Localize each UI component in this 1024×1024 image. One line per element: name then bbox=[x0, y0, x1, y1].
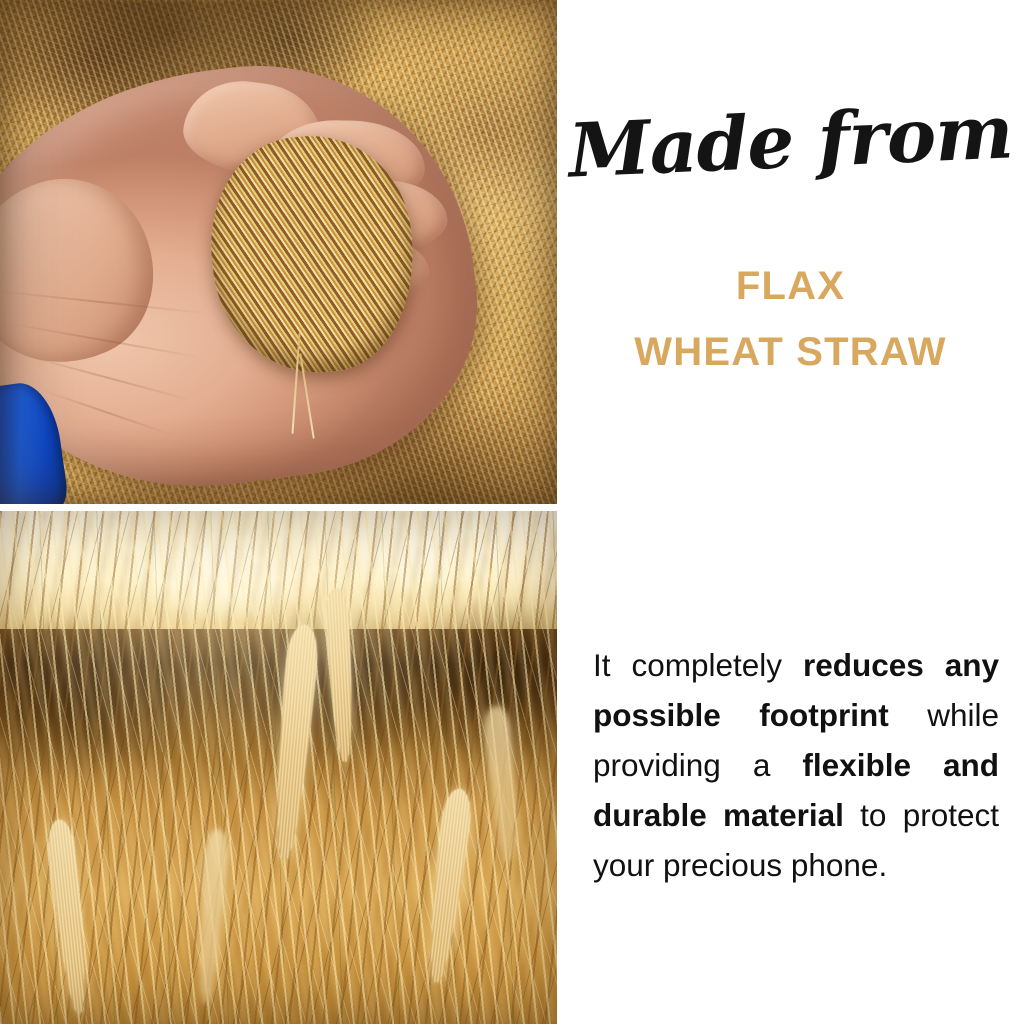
headline-script: Made from bbox=[556, 94, 1024, 192]
photo-hand-holding-wheat-chaff bbox=[0, 0, 557, 504]
content-panel: Made from FLAX WHEAT STRAW It completely… bbox=[557, 0, 1024, 1024]
body-description: It completely reduces any possible footp… bbox=[593, 640, 999, 890]
material-flax-label: FLAX bbox=[557, 264, 1024, 309]
body-text: It completely bbox=[593, 647, 803, 683]
material-wheat-straw-label: WHEAT STRAW bbox=[557, 330, 1024, 375]
product-infographic: Made from FLAX WHEAT STRAW It completely… bbox=[0, 0, 1024, 1024]
photo-golden-grass-field-sunset bbox=[0, 511, 557, 1024]
